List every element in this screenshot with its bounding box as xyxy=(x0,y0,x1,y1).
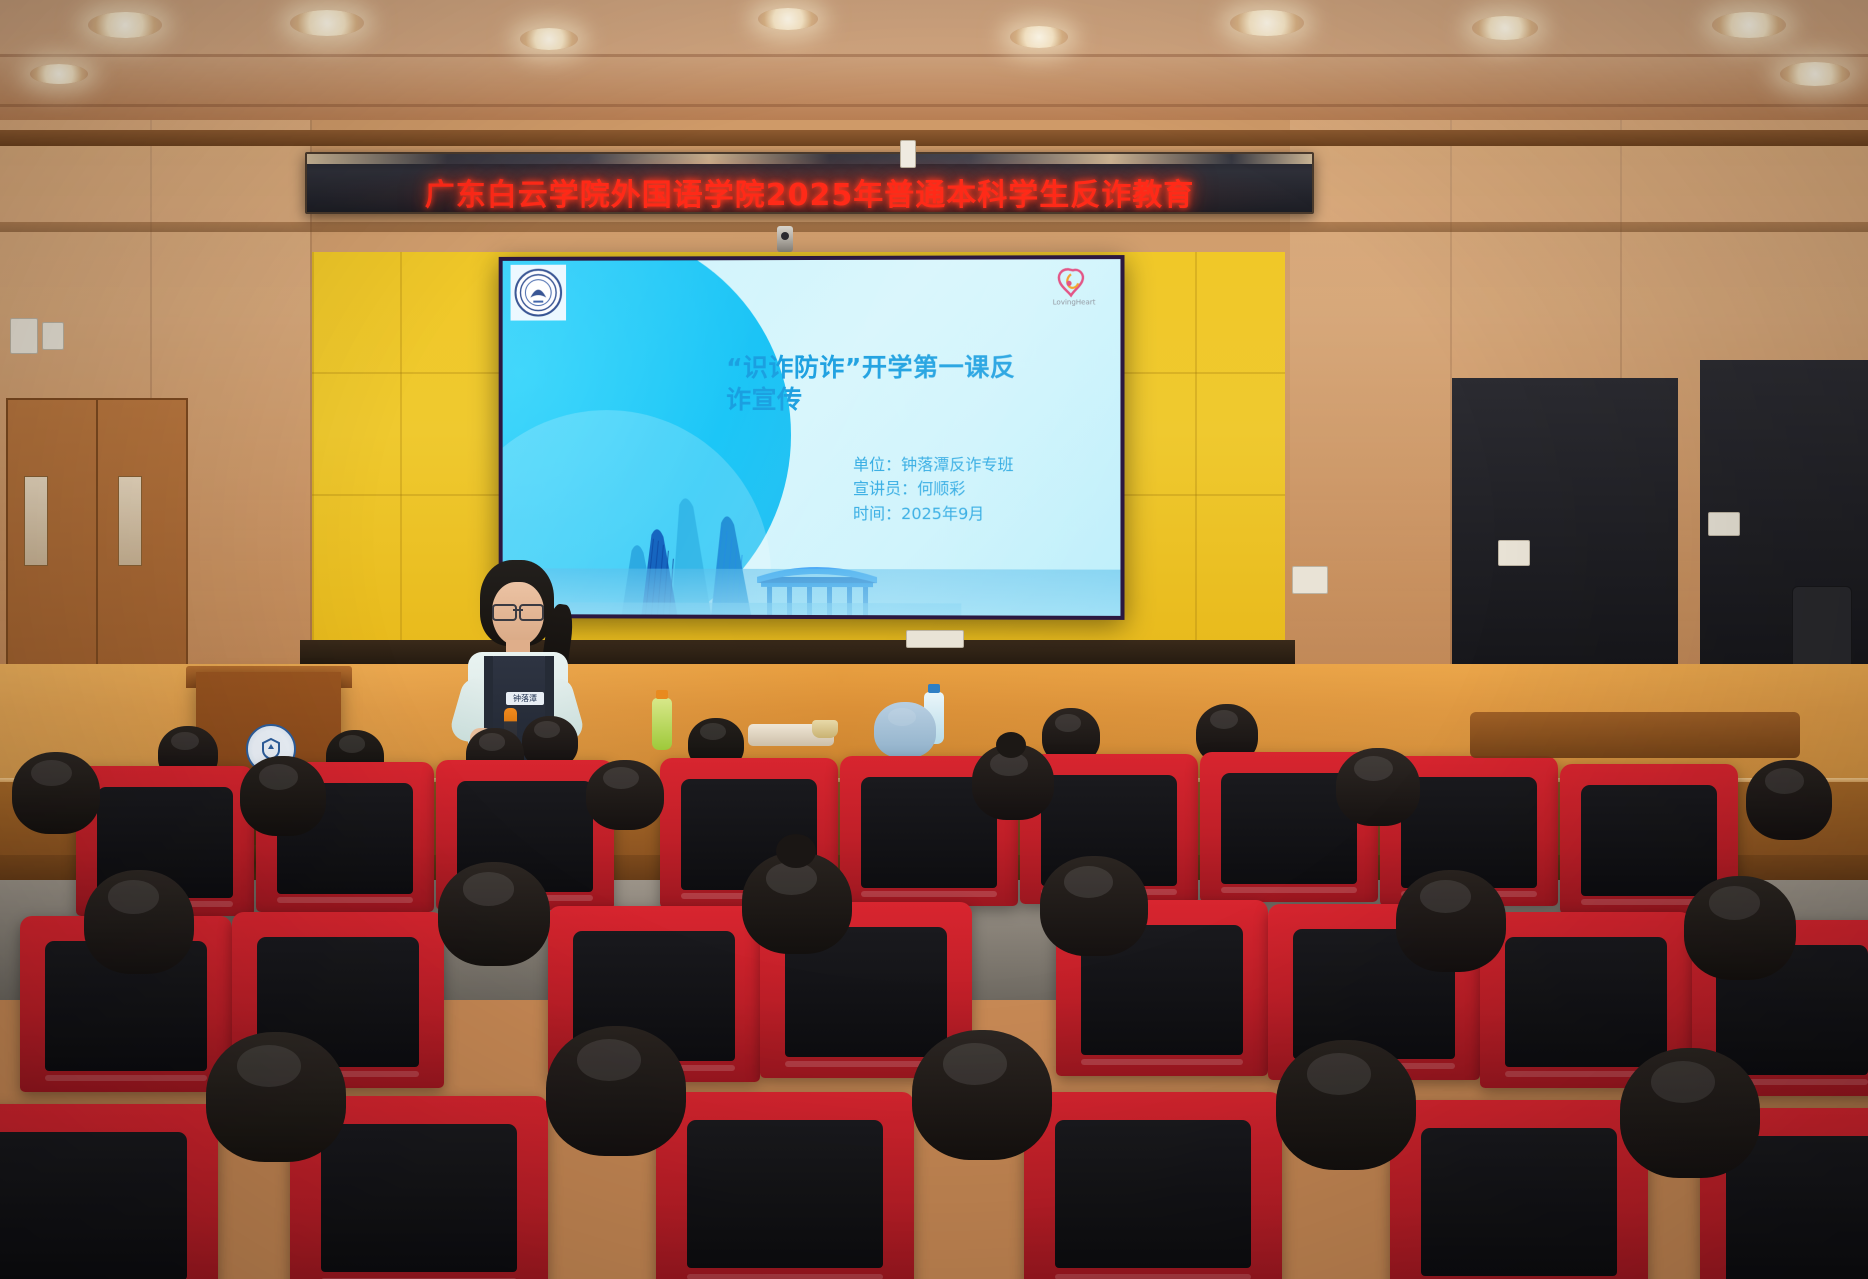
banner-text: 广东白云学院外国语学院2025年普通本科学生反诈教育 xyxy=(307,170,1312,214)
scene-root: 广东白云学院外国语学院2025年普通本科学生反诈教育 xyxy=(0,0,1868,1279)
ceiling-light xyxy=(30,64,88,84)
slide-info-label: 时间： xyxy=(853,504,901,523)
slide-info-label: 单位： xyxy=(853,455,901,474)
webcam-lens-icon xyxy=(781,232,789,240)
ceiling-light xyxy=(88,12,162,38)
ceiling-light xyxy=(1472,16,1538,40)
audience-hair-bun xyxy=(776,834,816,868)
glasses-lens-right xyxy=(519,604,544,621)
projection-screen: LovingHeart xyxy=(503,259,1121,616)
ceiling-light xyxy=(758,8,818,30)
vest-label: 钟落潭 xyxy=(506,692,544,705)
stage-outlet[interactable] xyxy=(1292,566,1328,594)
audience-head xyxy=(1396,870,1506,972)
wall-sensor xyxy=(900,140,916,168)
audience-hair-bun xyxy=(996,732,1026,758)
wall-outlet[interactable] xyxy=(1708,512,1740,536)
slide-title: “识诈防诈”开学第一课反 诈宣传 xyxy=(726,352,1112,415)
slide-info-row-unit: 单位：钟落潭反诈专班 xyxy=(853,453,1116,478)
backdrop-seam xyxy=(400,252,402,652)
ceiling-light xyxy=(1780,62,1850,86)
audience-head xyxy=(438,862,550,966)
door-window xyxy=(118,476,142,566)
audience-head-cap xyxy=(874,702,936,758)
wall-trim xyxy=(0,222,1868,232)
audience-head xyxy=(1276,1040,1416,1170)
stage-outlet[interactable] xyxy=(1498,540,1530,566)
ceiling-light xyxy=(1712,12,1786,38)
audience-head xyxy=(1684,876,1796,980)
ceiling-light xyxy=(1010,26,1068,48)
door-left-2[interactable] xyxy=(96,398,188,670)
wall-switch-plate[interactable] xyxy=(42,322,64,350)
audience-head xyxy=(546,1026,686,1156)
door-left[interactable] xyxy=(6,398,98,670)
seat[interactable] xyxy=(0,1104,218,1279)
lovingheart-logo: LovingHeart xyxy=(1038,265,1111,309)
bottle-cap xyxy=(928,684,940,693)
audience-head xyxy=(206,1032,346,1162)
slide-water-graphic xyxy=(503,568,1121,616)
audience-head xyxy=(12,752,100,834)
door-window xyxy=(24,476,48,566)
stage-outlet[interactable] xyxy=(906,630,964,648)
slide-info-label: 宣讲员： xyxy=(853,479,917,498)
slide-info-row-date: 时间：2025年9月 xyxy=(853,502,1116,527)
slide-info-row-speaker: 宣讲员：何顺彩 xyxy=(853,477,1116,502)
backdrop-seam xyxy=(312,252,314,652)
audience-head xyxy=(1040,856,1148,956)
audience-head xyxy=(1746,760,1832,840)
bottle-cap xyxy=(656,690,668,699)
seat[interactable] xyxy=(1024,1092,1282,1279)
ceiling-seam xyxy=(0,104,1868,107)
svg-text:LovingHeart: LovingHeart xyxy=(1053,298,1096,306)
aisle-rail xyxy=(1470,712,1800,758)
ceiling-light xyxy=(290,10,364,36)
university-emblem xyxy=(511,265,566,321)
projection-screen-frame: LovingHeart xyxy=(499,255,1125,620)
ceiling-seam xyxy=(0,54,1868,57)
audience-head xyxy=(1336,748,1420,826)
audience-head xyxy=(912,1030,1052,1160)
beverage-bottle-green[interactable] xyxy=(652,698,672,750)
ceiling-light xyxy=(1230,10,1304,36)
slide-info-block: 单位：钟落潭反诈专班 宣讲员：何顺彩 时间：2025年9月 xyxy=(853,453,1116,526)
slide-info-value: 2025年9月 xyxy=(901,504,984,523)
slide-title-line2: 诈宣传 xyxy=(726,383,1112,415)
glasses-lens-left xyxy=(492,604,517,621)
webcam xyxy=(777,226,793,252)
ceiling xyxy=(0,0,1868,132)
wall-trim xyxy=(0,130,1868,146)
speaker-right xyxy=(1792,586,1852,674)
audience-head xyxy=(84,870,194,974)
doorway-right xyxy=(1452,378,1678,678)
seat[interactable] xyxy=(656,1092,914,1279)
glasses-bridge xyxy=(513,609,523,611)
presenter-glasses xyxy=(492,604,544,617)
slide-title-line1: “识诈防诈”开学第一课反 xyxy=(726,352,1112,384)
slide-info-value: 何顺彩 xyxy=(917,479,965,498)
audience-head xyxy=(586,760,664,830)
backdrop-seam xyxy=(1195,252,1197,652)
audience-head xyxy=(240,756,326,836)
slide-info-value: 钟落潭反诈专班 xyxy=(901,455,1014,474)
ceiling-light xyxy=(520,28,578,50)
audience-head xyxy=(1620,1048,1760,1178)
cup[interactable] xyxy=(812,720,838,738)
wall-switch-plate[interactable] xyxy=(10,318,38,354)
led-banner: 广东白云学院外国语学院2025年普通本科学生反诈教育 xyxy=(305,152,1314,214)
seat[interactable] xyxy=(1390,1100,1648,1279)
university-emblem-icon xyxy=(514,268,564,318)
